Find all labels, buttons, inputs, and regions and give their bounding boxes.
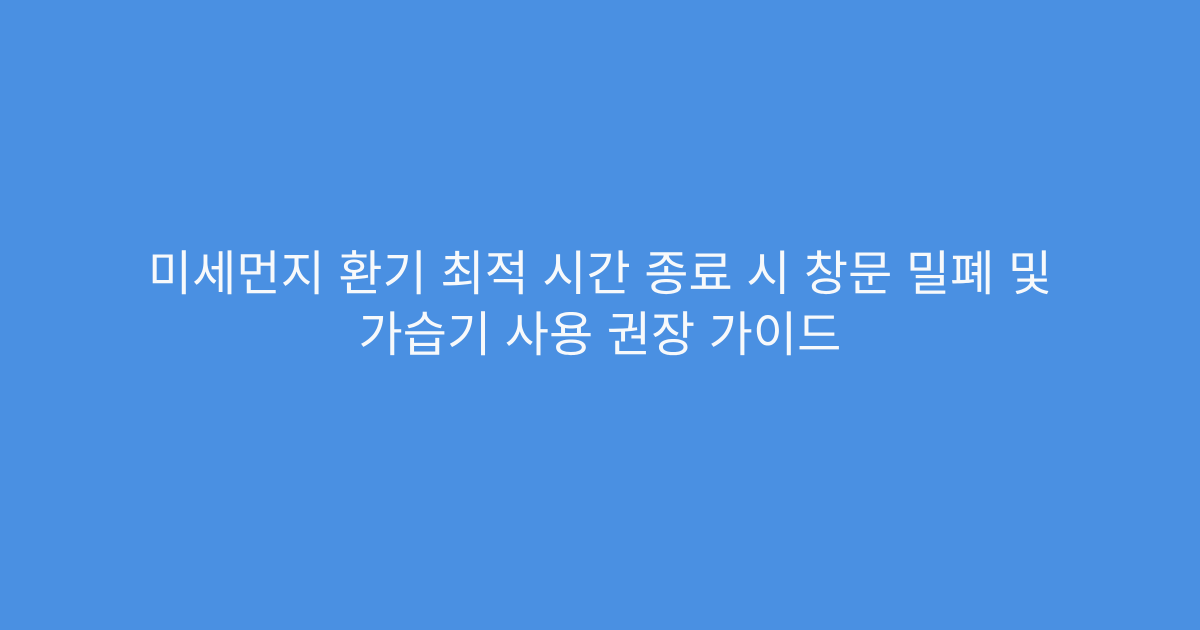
page-title: 미세먼지 환기 최적 시간 종료 시 창문 밀폐 및 가습기 사용 권장 가이드 [148, 244, 1052, 366]
banner-card: 미세먼지 환기 최적 시간 종료 시 창문 밀폐 및 가습기 사용 권장 가이드 [0, 0, 1200, 630]
banner-content: 미세먼지 환기 최적 시간 종료 시 창문 밀폐 및 가습기 사용 권장 가이드 [70, 244, 1130, 366]
